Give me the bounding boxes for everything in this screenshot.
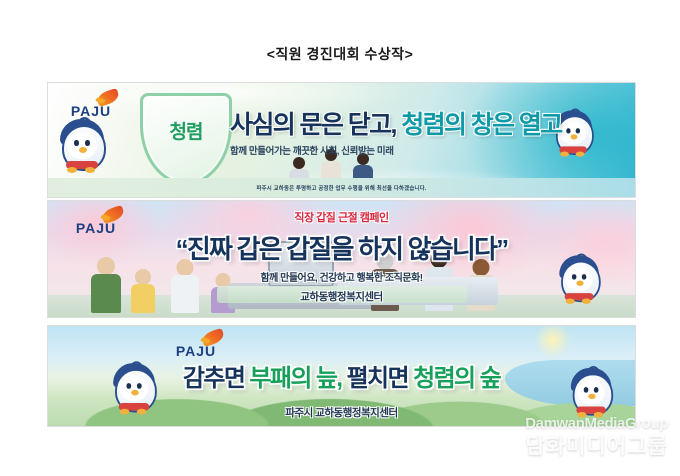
banner2-headline: “진짜 갑은 갑질을 하지 않습니다” [48,229,635,266]
banner-integrity-door: PAJU 청렴 [47,82,636,198]
banner3-headline-part3: 펼치면 [347,365,408,392]
person-figure [170,259,200,313]
mascot-foot-left [67,167,77,173]
mascot-beak [588,394,595,400]
banner1-headline-part1: 사심의 문은 닫고, [230,111,396,139]
mascot-foot-right [85,167,95,173]
watermark-korean: 담화미디어그룹 [525,430,668,460]
page-title: <직원 경진대회 수상작> [0,44,680,64]
banner-corruption-swamp: PAJU 감추면 부패의 늪, [47,325,636,427]
banner1-footer-bar: 파주시 교하동은 투명하고 공정한 업무 수행을 위해 최선을 다하겠습니다. [48,178,635,197]
mascot-beak [79,147,87,153]
banner2-campaign-label: 직장 갑질 근절 캠페인 [48,209,635,225]
mascot-eye-left [74,140,79,146]
integrity-shield-icon: 청렴 [140,93,232,185]
banner-gapjil-campaign: PAJU [47,200,636,318]
banner3-headline-part4: 청렴의 숲 [413,365,500,392]
shield-label: 청렴 [140,117,232,144]
paju-logo-banner3: PAJU [166,331,226,359]
mascot-eye-right [85,140,90,146]
figure-head [293,157,305,169]
paju-mascot-banner1-left [56,109,110,175]
banner1-subtitle: 함께 만들어가는 깨끗한 사회, 신뢰받는 미래 [230,143,600,157]
banner3-organization: 파주시 교하동행정복지센터 [48,405,635,420]
banner2-organization: 교하동행정복지센터 [48,289,635,304]
banner2-subtitle: 함께 만들어요, 건강하고 행복한 조직문화! [48,269,635,284]
mascot-face [67,133,97,159]
banner1-headline-part2: 청렴의 창은 열고 [401,111,562,139]
banner3-headline-part2: 부패의 늪, [249,365,341,392]
paju-logo-text: PAJU [166,343,226,359]
banner3-headline-part1: 감추면 [183,365,244,392]
banner3-headline: 감추면 부패의 늪, 펼치면 청렴의 숲 [48,358,635,393]
document-page: <직원 경진대회 수상작> PAJU 청렴 [0,0,680,476]
banner1-footer-note: 파주시 교하동은 투명하고 공정한 업무 수행을 위해 최선을 다하겠습니다. [256,184,426,192]
banner1-headline: 사심의 문은 닫고, 청렴의 창은 열고 [230,105,600,141]
